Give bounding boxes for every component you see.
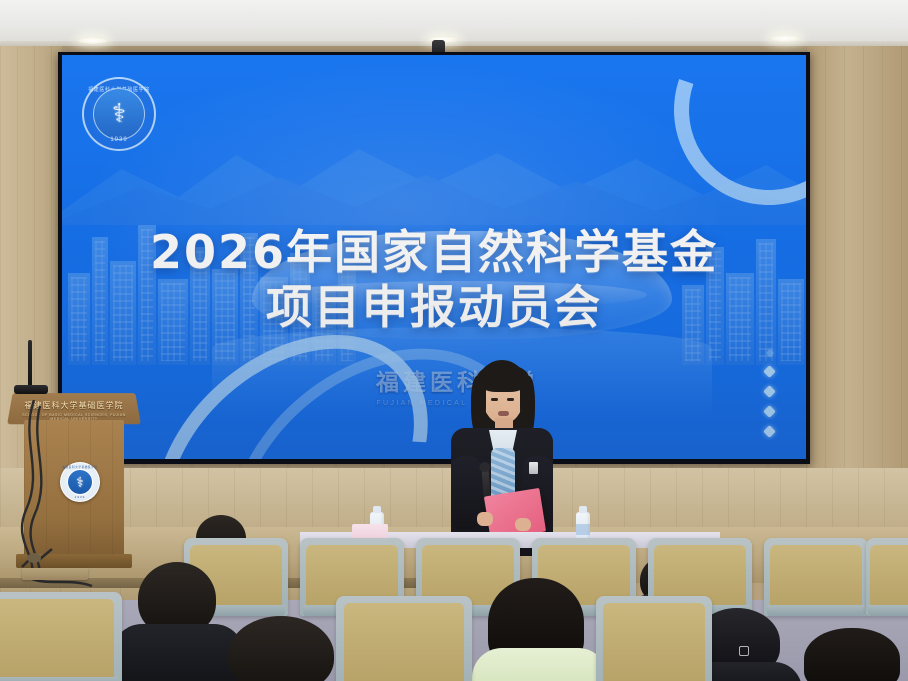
- diamond-dots-icon: [765, 350, 774, 436]
- slide-headline: 2026年国家自然科学基金 项目申报动员会: [62, 227, 806, 336]
- presenter-left-hand: [477, 512, 493, 526]
- auditorium-seat: [764, 538, 868, 616]
- floor-cable-plate: [22, 568, 88, 580]
- attendee-head-long-hair: [804, 628, 900, 681]
- headline-line-1: 2026年国家自然科学基金: [62, 227, 806, 279]
- projection-screen: 福建医科大学 FUJIAN MEDICAL UNIVERSITY 福建医科大学基…: [62, 55, 806, 459]
- seal-inner-disc: ⚕: [93, 88, 145, 140]
- presenter-badge: [529, 462, 538, 474]
- university-seal-icon: 福建医科大学基础医学院 ⚕ 1939: [82, 77, 156, 151]
- presenter: [443, 360, 561, 555]
- recessed-downlight: [78, 37, 108, 44]
- auditorium-seat: [866, 538, 908, 616]
- projection-screen-frame: 福建医科大学 FUJIAN MEDICAL UNIVERSITY 福建医科大学基…: [58, 52, 810, 464]
- auditorium-seat: [0, 592, 122, 681]
- seal-year: 1939: [84, 137, 154, 143]
- microphone-base: [14, 385, 48, 394]
- caduceus-icon: ⚕: [112, 100, 126, 126]
- conference-hall-photo: 福建医科大学 FUJIAN MEDICAL UNIVERSITY 福建医科大学基…: [0, 0, 908, 681]
- attendee-shoulders: [472, 648, 608, 681]
- microphone-icon: [28, 340, 32, 388]
- headline-line-2: 项目申报动员会: [62, 279, 806, 337]
- auditorium-seat: [596, 596, 712, 681]
- presenter-mouth: [498, 411, 509, 416]
- attendee-shoulders: [112, 624, 244, 681]
- recessed-downlight: [770, 35, 800, 42]
- presenter-right-hand: [515, 518, 531, 531]
- auditorium-seat: [336, 596, 472, 681]
